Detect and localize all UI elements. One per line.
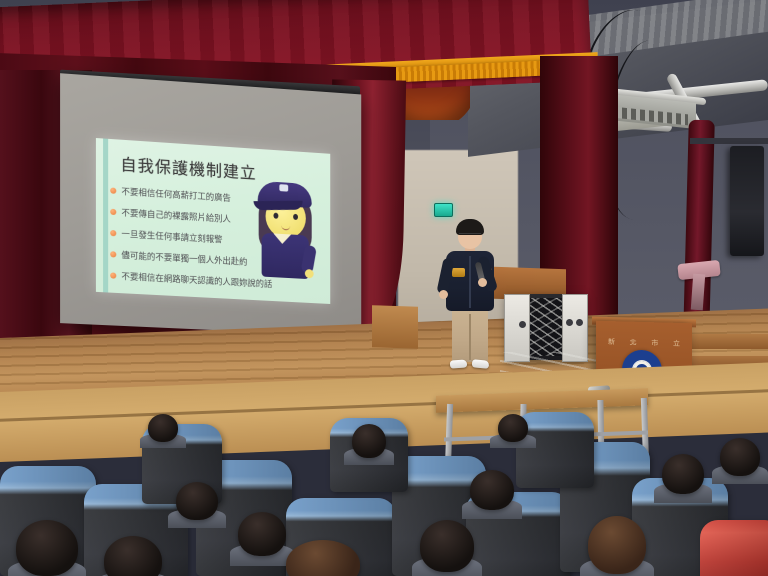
slide-title: 自我保護機制建立 (120, 151, 256, 184)
bullet-dot-icon (110, 187, 116, 193)
screenshot-scene: 自我保護機制建立 不要相信任何高薪打工的廣告不要傳自己的裸露照片給別人一旦發生任… (0, 0, 768, 576)
presenter-hand (478, 278, 487, 287)
presenter-badge-patch (452, 268, 465, 277)
audience-member-head (720, 438, 760, 476)
podium-plaque-char: 立 (673, 339, 680, 349)
av-equipment-rack (506, 294, 586, 360)
mascot-hand (305, 269, 314, 278)
podium-plaque-char: 北 (630, 338, 637, 348)
audience-member-head (588, 516, 646, 574)
rack-knob-icon (566, 319, 573, 326)
audience-member-head (148, 414, 178, 442)
policewoman-mascot-icon (250, 170, 323, 285)
audience-member-head (16, 520, 78, 576)
audience-member-head (238, 512, 286, 556)
presenter-glasses-icon (459, 233, 481, 239)
rack-cable-bundle (528, 298, 566, 356)
mascot-eye (293, 214, 298, 220)
bullet-dot-icon (110, 208, 116, 214)
mascot-cap-badge-icon (279, 184, 288, 192)
slide-bullet-list: 不要相信任何高薪打工的廣告不要傳自己的裸露照片給別人一旦發生任何事請立刻報警儘可… (110, 179, 272, 294)
audience-area (0, 408, 768, 576)
presenter-shoe (450, 359, 468, 368)
slide-bullet-text: 儘可能的不要單獨一個人外出赴約 (121, 248, 247, 267)
audience-member-head (662, 454, 704, 494)
bullet-dot-icon (110, 251, 116, 257)
presenter-hand (439, 290, 448, 299)
podium-plaque-char: 市 (651, 338, 658, 348)
presenter-leg-split (469, 314, 471, 360)
audience-member-head (470, 470, 514, 510)
curtain-ribbon-tail (691, 274, 705, 311)
rack-knob-icon (519, 321, 526, 328)
wooden-lectern (372, 305, 418, 349)
podium-plaque-char: 新 (608, 337, 615, 347)
slide-bullet-text: 不要相信任何高薪打工的廣告 (121, 185, 230, 204)
slide-accent-bar (103, 138, 108, 292)
audience-member-head (176, 482, 218, 520)
podium-plaque-text: 新北市立 (608, 337, 680, 349)
slide-bullet-text: 不要傳自己的裸露照片給別人 (121, 206, 230, 225)
audience-chair-accent (700, 520, 768, 576)
mascot-eye (273, 213, 278, 219)
stage-step (690, 334, 768, 349)
audience-member-head (352, 424, 386, 458)
slide-bullet-text: 一旦發生任何事請立刻報警 (121, 227, 222, 245)
bullet-dot-icon (110, 229, 116, 235)
wall-rail (690, 138, 768, 144)
loudspeaker-icon (730, 146, 764, 256)
rack-knob-icon (576, 319, 583, 326)
mascot-cap-brim (253, 201, 303, 210)
presenter-shoe (472, 359, 490, 368)
audience-member-head (420, 520, 474, 572)
audience-chair (516, 412, 594, 488)
audience-member-head (498, 414, 528, 442)
presenter (438, 222, 500, 372)
presenter-jacket-zip (469, 256, 471, 308)
exit-sign-icon (434, 203, 453, 217)
presentation-slide: 自我保護機制建立 不要相信任何高薪打工的廣告不要傳自己的裸露照片給別人一旦發生任… (96, 138, 330, 304)
bullet-dot-icon (110, 272, 116, 278)
